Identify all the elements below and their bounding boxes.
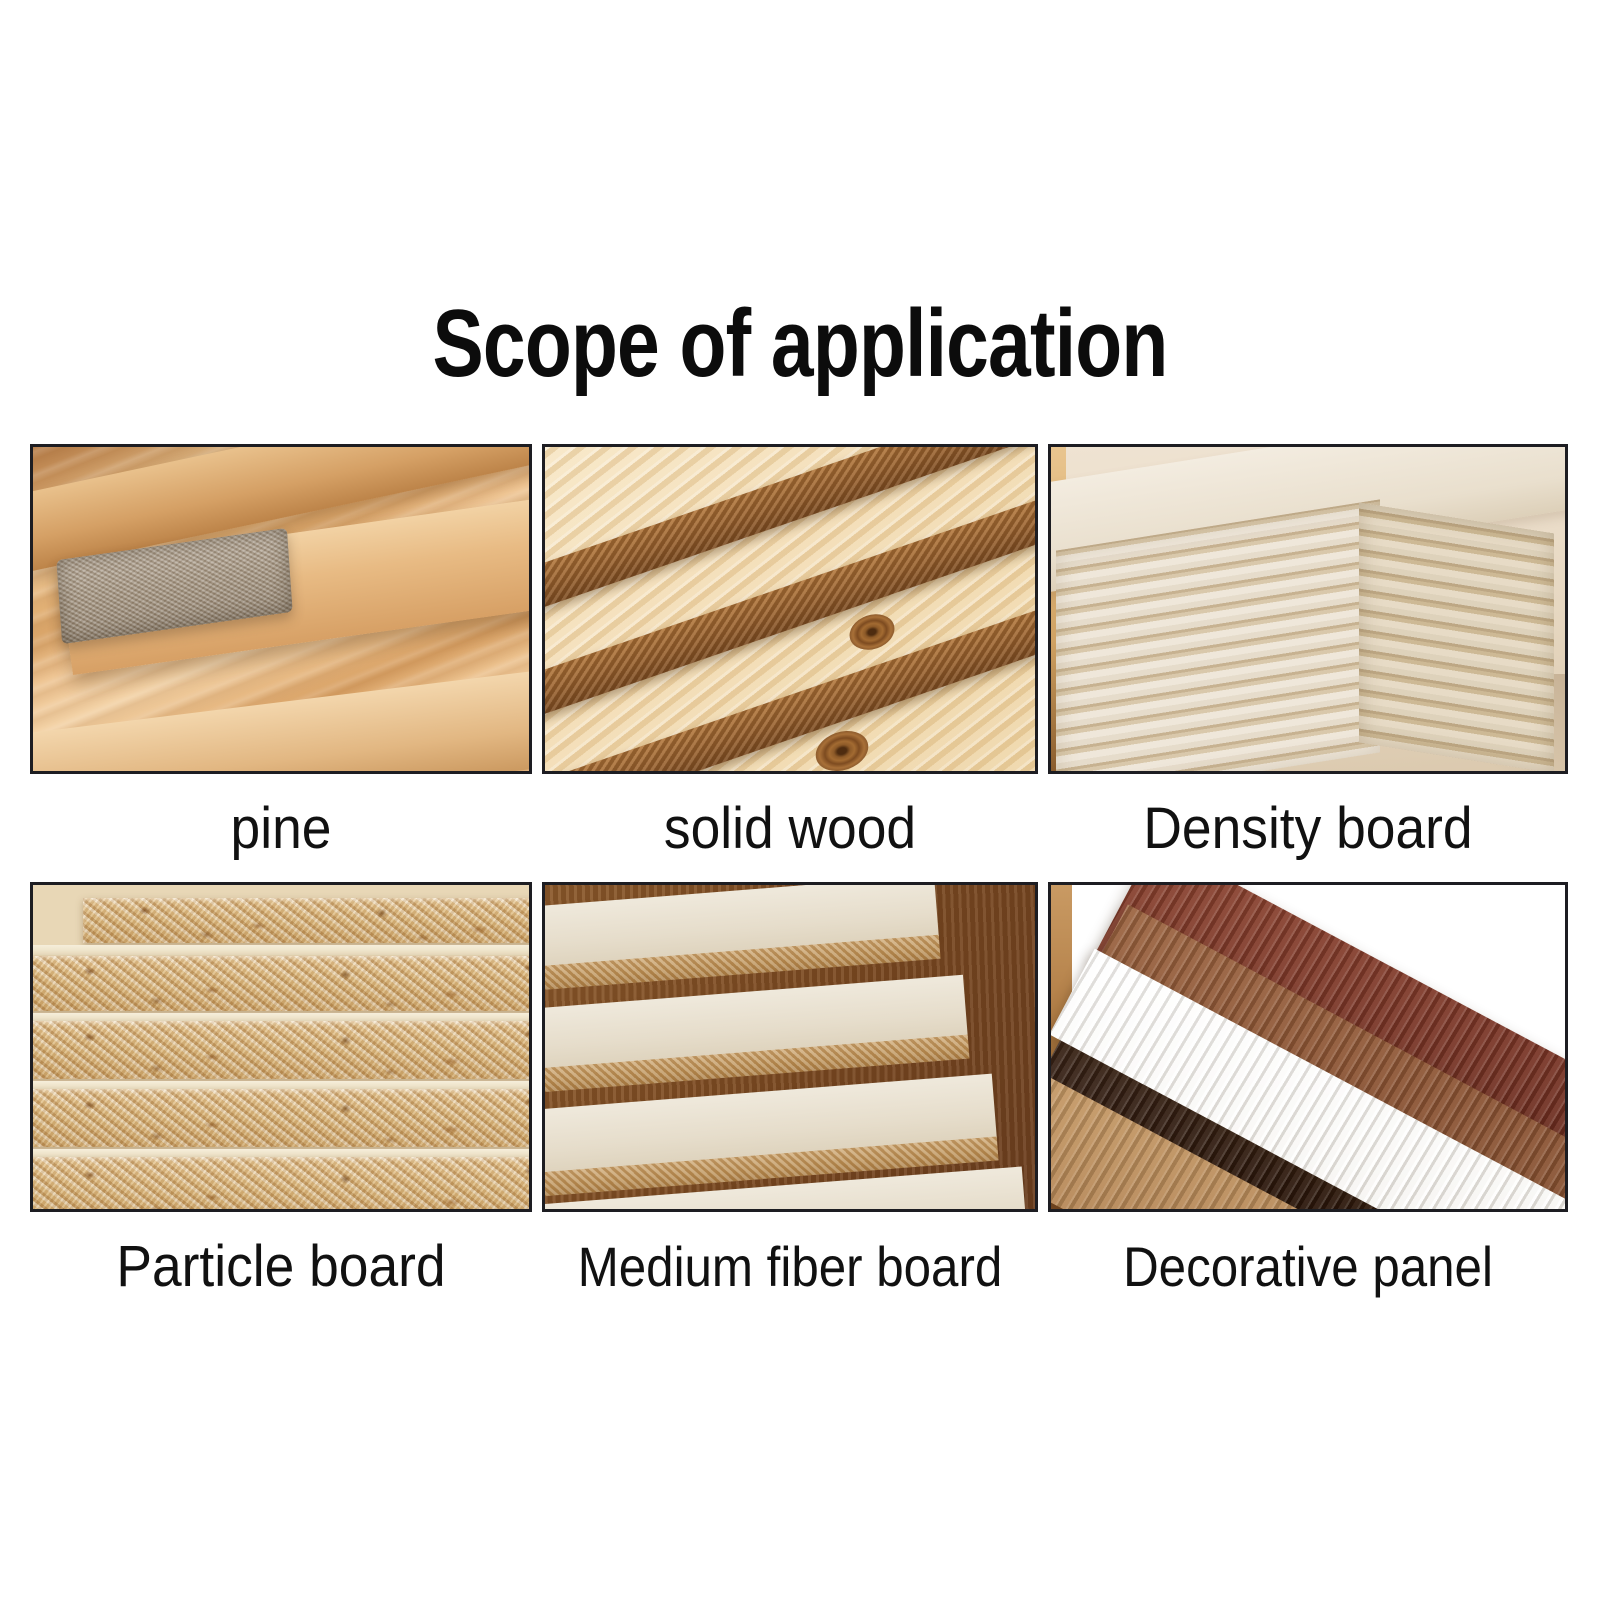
pine-plank-bottom <box>30 664 532 774</box>
material-label-pine: pine <box>50 774 512 882</box>
particle-board-slab <box>30 956 532 1011</box>
material-cell-solid-wood[interactable]: solid wood <box>542 444 1038 882</box>
material-label-medium-fiber-board: Medium fiber board <box>572 1212 1008 1320</box>
solid-wood-photo <box>542 444 1038 774</box>
material-grid-row: Particle board <box>30 882 1568 1320</box>
material-label-density-board: Density board <box>1069 774 1547 882</box>
wood-knot <box>845 609 900 656</box>
material-label-solid-wood: solid wood <box>562 774 1018 882</box>
page-title: Scope of application <box>160 296 1440 392</box>
material-cell-decorative-panel[interactable]: Decorative panel <box>1048 882 1568 1320</box>
particle-board-slab <box>30 1021 532 1079</box>
particle-board-slab <box>30 1089 532 1147</box>
decorative-panel-photo <box>1048 882 1568 1212</box>
density-board-photo <box>1048 444 1568 774</box>
mdf-panel <box>542 975 968 1071</box>
material-cell-pine[interactable]: pine <box>30 444 532 882</box>
mdf-panel <box>542 1074 998 1176</box>
material-cell-particle-board[interactable]: Particle board <box>30 882 532 1320</box>
material-label-decorative-panel: Decorative panel <box>1079 1212 1537 1320</box>
material-cell-density-board[interactable]: Density board <box>1048 444 1568 882</box>
material-grid-row: pine solid wood <box>30 444 1568 882</box>
particle-board-slab <box>30 1157 532 1212</box>
particle-board-slab <box>83 898 532 943</box>
material-cell-medium-fiber-board[interactable]: Medium fiber board <box>542 882 1038 1320</box>
wood-knot <box>810 724 873 774</box>
density-board-side-stack <box>1359 503 1554 774</box>
medium-fiber-board-photo <box>542 882 1038 1212</box>
material-grid: pine solid wood <box>30 444 1568 1320</box>
mdf-panel <box>542 882 939 969</box>
infographic-page: Scope of application pine <box>0 0 1600 1600</box>
particle-board-gap <box>30 945 532 955</box>
pine-photo <box>30 444 532 774</box>
particle-board-photo <box>30 882 532 1212</box>
material-label-particle-board: Particle board <box>50 1212 512 1320</box>
